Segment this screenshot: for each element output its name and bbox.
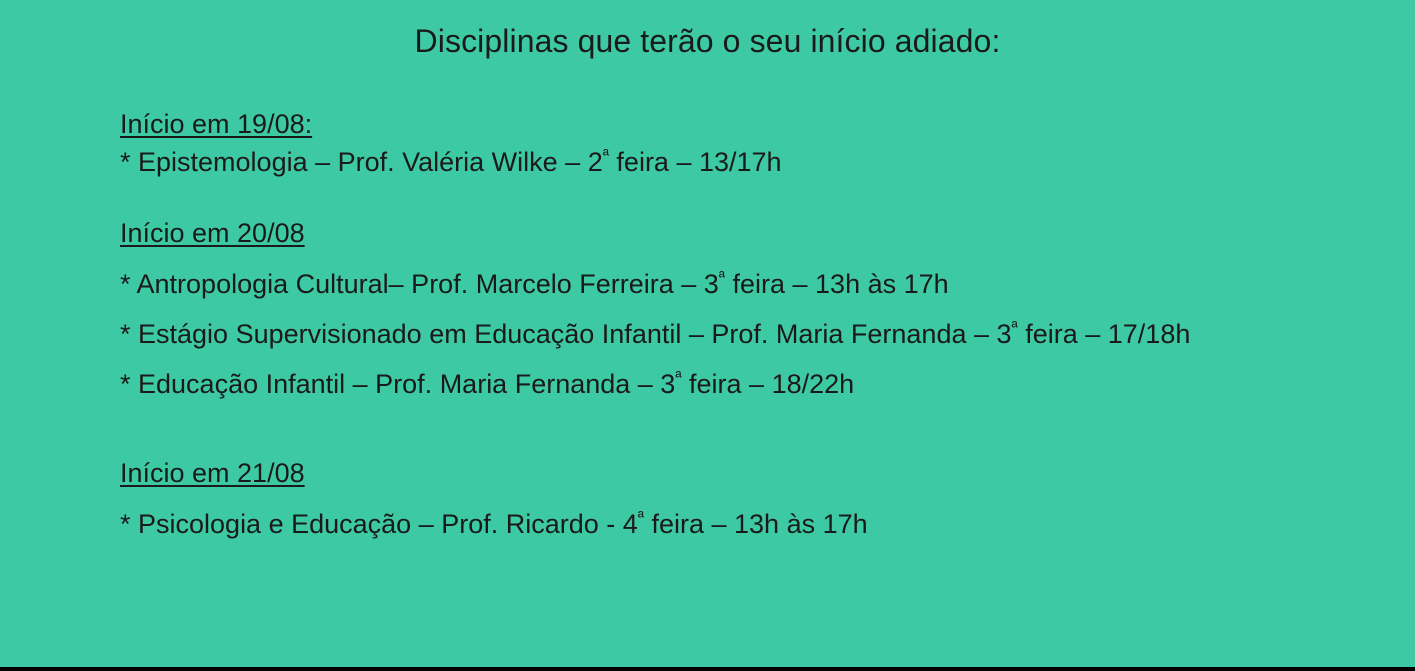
- schedule-item: * Epistemologia – Prof. Valéria Wilke – …: [120, 145, 1310, 180]
- schedule-item: * Antropologia Cultural– Prof. Marcelo F…: [120, 266, 1310, 302]
- schedule-group: Início em 19/08: * Epistemologia – Prof.…: [120, 107, 1310, 180]
- page-title: Disciplinas que terão o seu início adiad…: [0, 21, 1415, 61]
- schedule-group: Início em 21/08 * Psicologia e Educação …: [120, 456, 1310, 542]
- group-heading-label: Início em 19/08:: [120, 109, 312, 139]
- schedule-item: * Estágio Supervisionado em Educação Inf…: [120, 316, 1310, 352]
- group-heading-label: Início em 21/08: [120, 458, 305, 488]
- schedule-item: * Educação Infantil – Prof. Maria Fernan…: [120, 366, 1310, 402]
- schedule-group: Início em 20/08 * Antropologia Cultural–…: [120, 216, 1310, 402]
- bottom-rule: [0, 667, 1415, 671]
- group-heading-20-08: Início em 20/08: [120, 216, 1310, 252]
- group-heading-label: Início em 20/08: [120, 218, 305, 248]
- schedule-item: * Psicologia e Educação – Prof. Ricardo …: [120, 506, 1310, 542]
- slide-canvas: Disciplinas que terão o seu início adiad…: [0, 0, 1415, 671]
- schedule-list: Início em 19/08: * Epistemologia – Prof.…: [120, 107, 1310, 543]
- group-heading-19-08: Início em 19/08:: [120, 107, 1310, 143]
- group-heading-21-08: Início em 21/08: [120, 456, 1310, 492]
